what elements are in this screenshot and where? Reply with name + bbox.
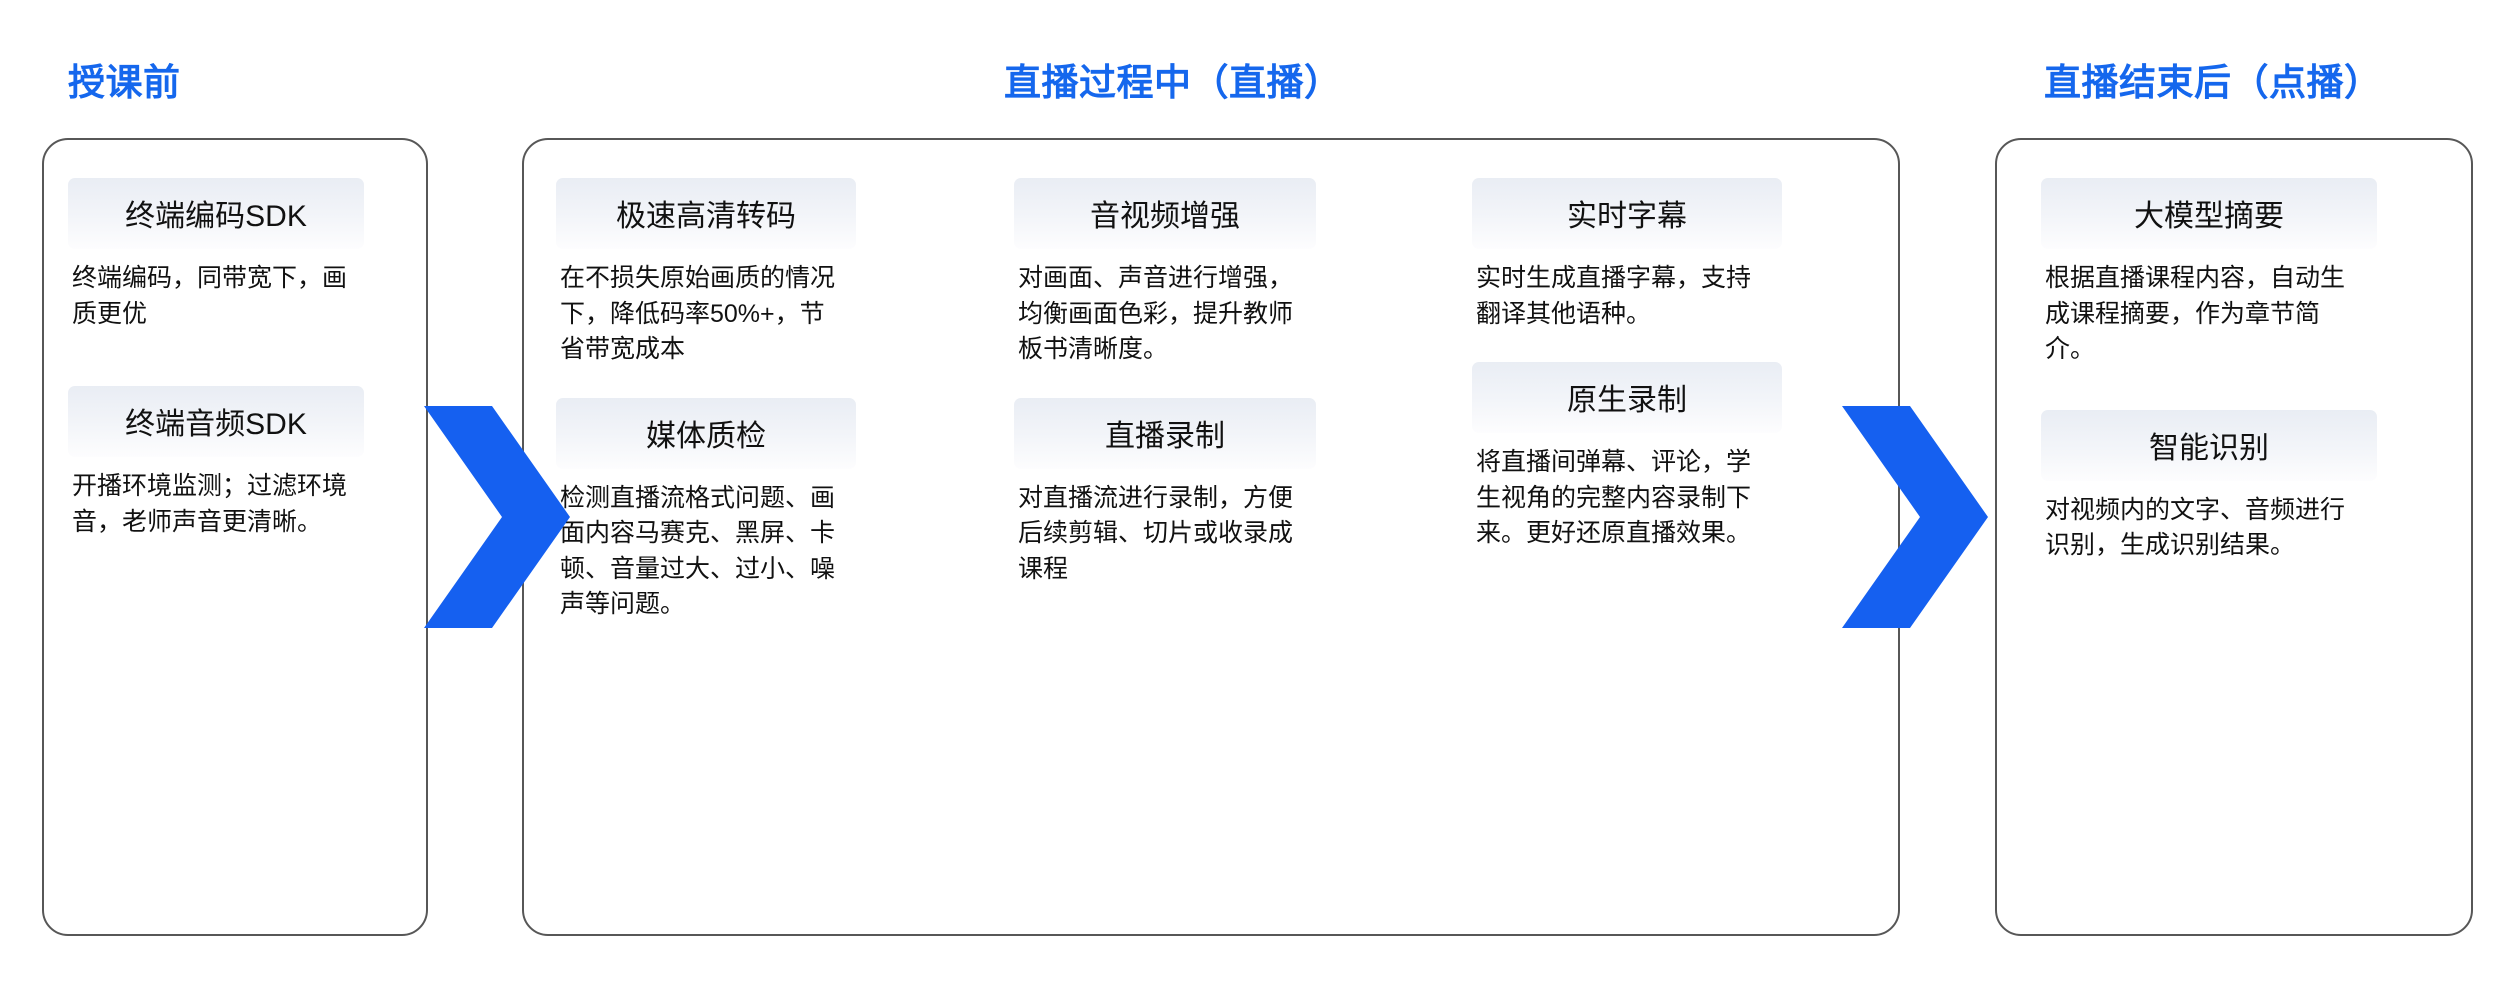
diagram-canvas: 授课前 直播过程中（直播） 直播结束后（点播） 终端编码SDK 终端编码，同带宽… — [0, 0, 2514, 992]
feature-title: 原生录制 — [1472, 362, 1782, 433]
feature-card[interactable]: 大模型摘要 根据直播课程内容，自动生成课程摘要，作为章节简介。 — [2041, 178, 2377, 368]
feature-column: 极速高清转码 在不损失原始画质的情况下，降低码率50%+，节省带宽成本 媒体质检… — [524, 140, 982, 934]
phase-header-after-live: 直播结束后（点播） — [2044, 52, 2382, 106]
feature-column: 实时字幕 实时生成直播字幕，支持翻译其他语种。 原生录制 将直播间弹幕、评论，学… — [1440, 140, 1898, 934]
feature-description: 终端编码，同带宽下，画质更优 — [68, 249, 358, 332]
feature-column: 终端编码SDK 终端编码，同带宽下，画质更优 终端音频SDK 开播环境监测；过滤… — [44, 140, 426, 934]
feature-title: 实时字幕 — [1472, 178, 1782, 249]
stage-panel-during-live: 极速高清转码 在不损失原始画质的情况下，降低码率50%+，节省带宽成本 媒体质检… — [522, 138, 1900, 936]
feature-title: 终端音频SDK — [68, 386, 364, 457]
feature-description: 实时生成直播字幕，支持翻译其他语种。 — [1472, 249, 1768, 332]
flow-arrow-right-icon — [1842, 406, 1988, 628]
feature-description: 根据直播课程内容，自动生成课程摘要，作为章节简介。 — [2041, 249, 2371, 368]
feature-description: 开播环境监测；过滤环境音，老师声音更清晰。 — [68, 457, 358, 540]
feature-title: 音视频增强 — [1014, 178, 1316, 249]
stage-columns: 极速高清转码 在不损失原始画质的情况下，降低码率50%+，节省带宽成本 媒体质检… — [524, 140, 1898, 934]
phase-header-pre-class: 授课前 — [68, 52, 181, 106]
flow-arrow-right-icon — [424, 406, 570, 628]
feature-description: 对视频内的文字、音频进行识别，生成识别结果。 — [2041, 481, 2371, 564]
feature-title: 终端编码SDK — [68, 178, 364, 249]
feature-title: 智能识别 — [2041, 410, 2377, 481]
feature-card[interactable]: 原生录制 将直播间弹幕、评论，学生视角的完整内容录制下来。更好还原直播效果。 — [1472, 362, 1782, 552]
feature-title: 媒体质检 — [556, 398, 856, 469]
feature-card[interactable]: 终端音频SDK 开播环境监测；过滤环境音，老师声音更清晰。 — [68, 386, 364, 540]
feature-description: 将直播间弹幕、评论，学生视角的完整内容录制下来。更好还原直播效果。 — [1472, 433, 1768, 552]
feature-title: 大模型摘要 — [2041, 178, 2377, 249]
stage-panel-after-live: 大模型摘要 根据直播课程内容，自动生成课程摘要，作为章节简介。 智能识别 对视频… — [1995, 138, 2473, 936]
stage-columns: 终端编码SDK 终端编码，同带宽下，画质更优 终端音频SDK 开播环境监测；过滤… — [44, 140, 426, 934]
stage-columns: 大模型摘要 根据直播课程内容，自动生成课程摘要，作为章节简介。 智能识别 对视频… — [1997, 140, 2471, 934]
feature-column: 大模型摘要 根据直播课程内容，自动生成课程摘要，作为章节简介。 智能识别 对视频… — [1997, 140, 2471, 934]
feature-title: 极速高清转码 — [556, 178, 856, 249]
feature-card[interactable]: 音视频增强 对画面、声音进行增强，均衡画面色彩，提升教师板书清晰度。 — [1014, 178, 1316, 368]
feature-card[interactable]: 终端编码SDK 终端编码，同带宽下，画质更优 — [68, 178, 364, 332]
feature-description: 检测直播流格式问题、画面内容马赛克、黑屏、卡顿、音量过大、过小、噪声等问题。 — [556, 469, 852, 623]
feature-card[interactable]: 媒体质检 检测直播流格式问题、画面内容马赛克、黑屏、卡顿、音量过大、过小、噪声等… — [556, 398, 856, 623]
feature-description: 对画面、声音进行增强，均衡画面色彩，提升教师板书清晰度。 — [1014, 249, 1310, 368]
feature-title: 直播录制 — [1014, 398, 1316, 469]
feature-card[interactable]: 实时字幕 实时生成直播字幕，支持翻译其他语种。 — [1472, 178, 1782, 332]
feature-card[interactable]: 极速高清转码 在不损失原始画质的情况下，降低码率50%+，节省带宽成本 — [556, 178, 856, 368]
feature-description: 对直播流进行录制，方便后续剪辑、切片或收录成课程 — [1014, 469, 1310, 588]
feature-column: 音视频增强 对画面、声音进行增强，均衡画面色彩，提升教师板书清晰度。 直播录制 … — [982, 140, 1440, 934]
phase-header-during-live: 直播过程中（直播） — [1004, 52, 1342, 106]
feature-description: 在不损失原始画质的情况下，降低码率50%+，节省带宽成本 — [556, 249, 852, 368]
stage-panel-pre-class: 终端编码SDK 终端编码，同带宽下，画质更优 终端音频SDK 开播环境监测；过滤… — [42, 138, 428, 936]
feature-card[interactable]: 智能识别 对视频内的文字、音频进行识别，生成识别结果。 — [2041, 410, 2377, 564]
feature-card[interactable]: 直播录制 对直播流进行录制，方便后续剪辑、切片或收录成课程 — [1014, 398, 1316, 588]
